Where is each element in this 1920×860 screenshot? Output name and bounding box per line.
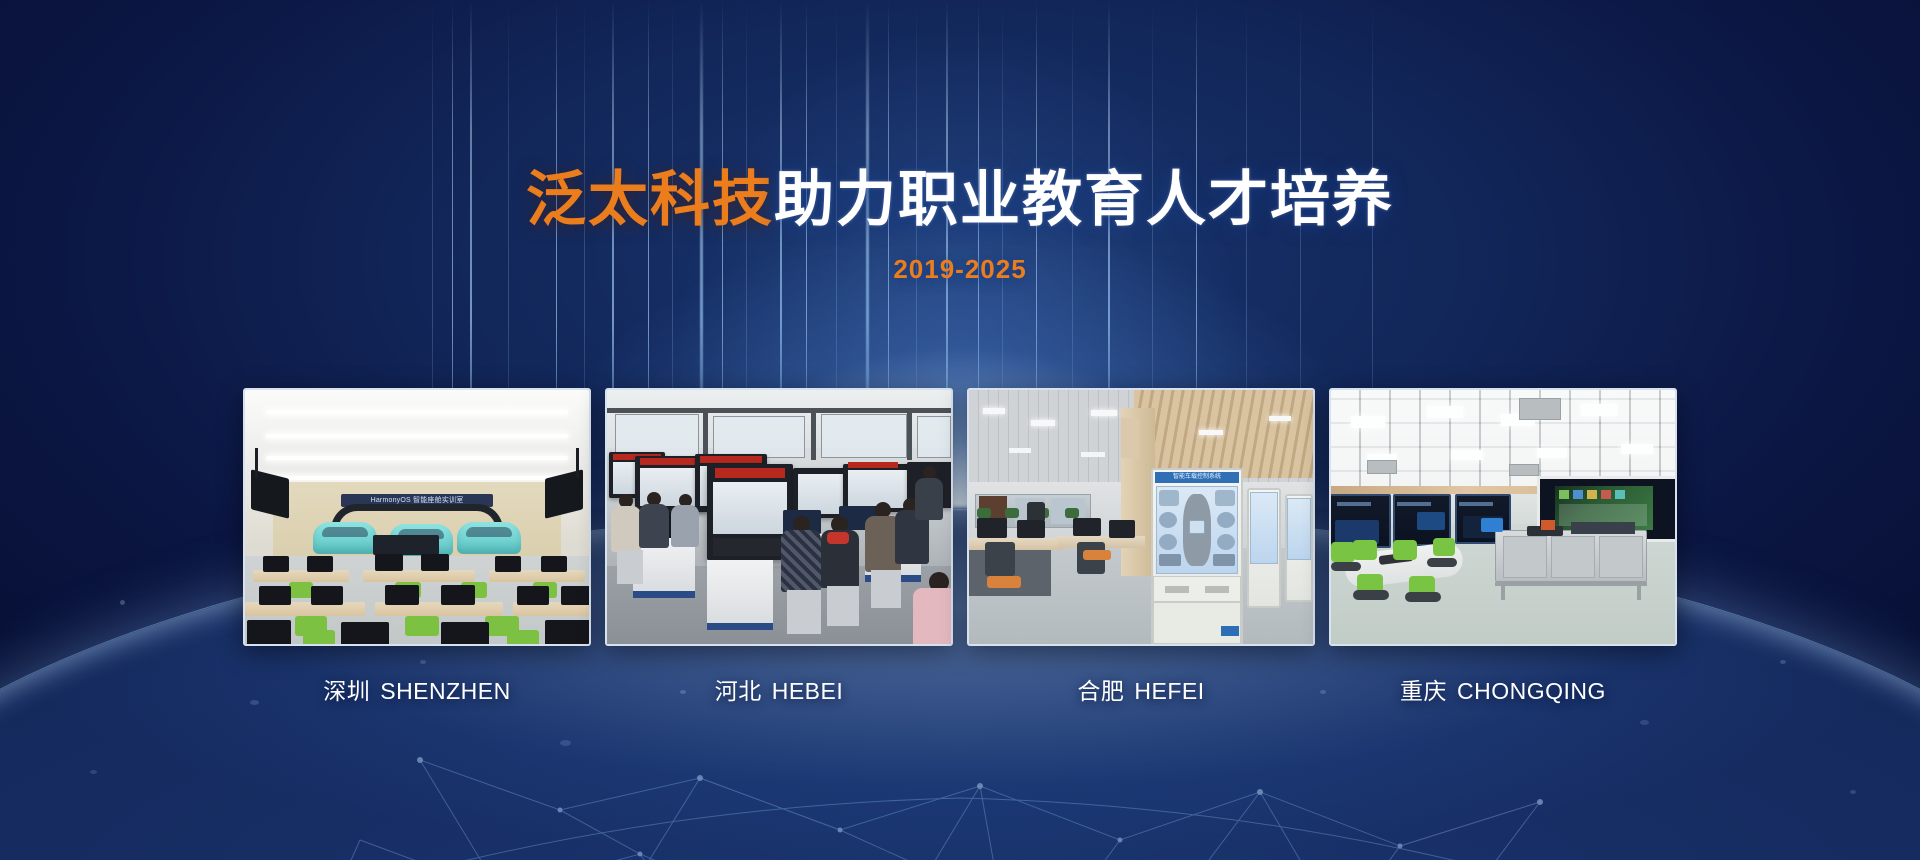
- hero-banner: 泛太科技助力职业教育人才培养 2019-2025 HarmonyOS 智能座舱实…: [0, 0, 1920, 860]
- photo-scene: [1331, 390, 1675, 644]
- gallery-item[interactable]: 河北HEBEI: [605, 388, 953, 706]
- gallery-photo-chongqing[interactable]: [1329, 388, 1677, 646]
- caption-en: HEBEI: [772, 678, 844, 704]
- page-title: 泛太科技助力职业教育人才培养: [0, 168, 1920, 232]
- gallery-caption: 深圳SHENZHEN: [243, 672, 591, 706]
- gallery-photo-hebei[interactable]: [605, 388, 953, 646]
- caption-cn: 深圳: [323, 678, 370, 704]
- gallery-photo-hefei[interactable]: 智能车载控制系统: [967, 388, 1315, 646]
- gallery-item[interactable]: HarmonyOS 智能座舱实训室: [243, 388, 591, 706]
- gallery-caption: 合肥HEFEI: [967, 672, 1315, 706]
- caption-en: SHENZHEN: [380, 678, 511, 704]
- photo-sign-text: 智能车载控制系统: [1155, 472, 1239, 483]
- gallery-caption: 重庆CHONGQING: [1329, 672, 1677, 706]
- photo-scene: [607, 390, 951, 644]
- particle: [90, 770, 97, 774]
- photo-scene: HarmonyOS 智能座舱实训室: [245, 390, 589, 644]
- gallery-item[interactable]: 智能车载控制系统: [967, 388, 1315, 706]
- hero-subtitle: 2019-2025: [0, 254, 1920, 285]
- caption-cn: 重庆: [1400, 678, 1447, 704]
- gallery-caption: 河北HEBEI: [605, 672, 953, 706]
- photo-scene: 智能车载控制系统: [969, 390, 1313, 644]
- gallery-photo-shenzhen[interactable]: HarmonyOS 智能座舱实训室: [243, 388, 591, 646]
- caption-cn: 合肥: [1077, 678, 1124, 704]
- particle: [560, 740, 571, 746]
- caption-en: HEFEI: [1134, 678, 1204, 704]
- particle: [120, 600, 125, 605]
- particle: [1780, 660, 1786, 664]
- hero-title-block: 泛太科技助力职业教育人才培养 2019-2025: [0, 168, 1920, 285]
- particle: [1640, 720, 1649, 725]
- particle: [1850, 790, 1856, 794]
- caption-cn: 河北: [715, 678, 762, 704]
- brand-name: 泛太科技: [526, 166, 774, 233]
- photo-gallery: HarmonyOS 智能座舱实训室: [243, 388, 1677, 706]
- gallery-item[interactable]: 重庆CHONGQING: [1329, 388, 1677, 706]
- title-rest: 助力职业教育人才培养: [774, 166, 1394, 233]
- caption-en: CHONGQING: [1457, 678, 1606, 704]
